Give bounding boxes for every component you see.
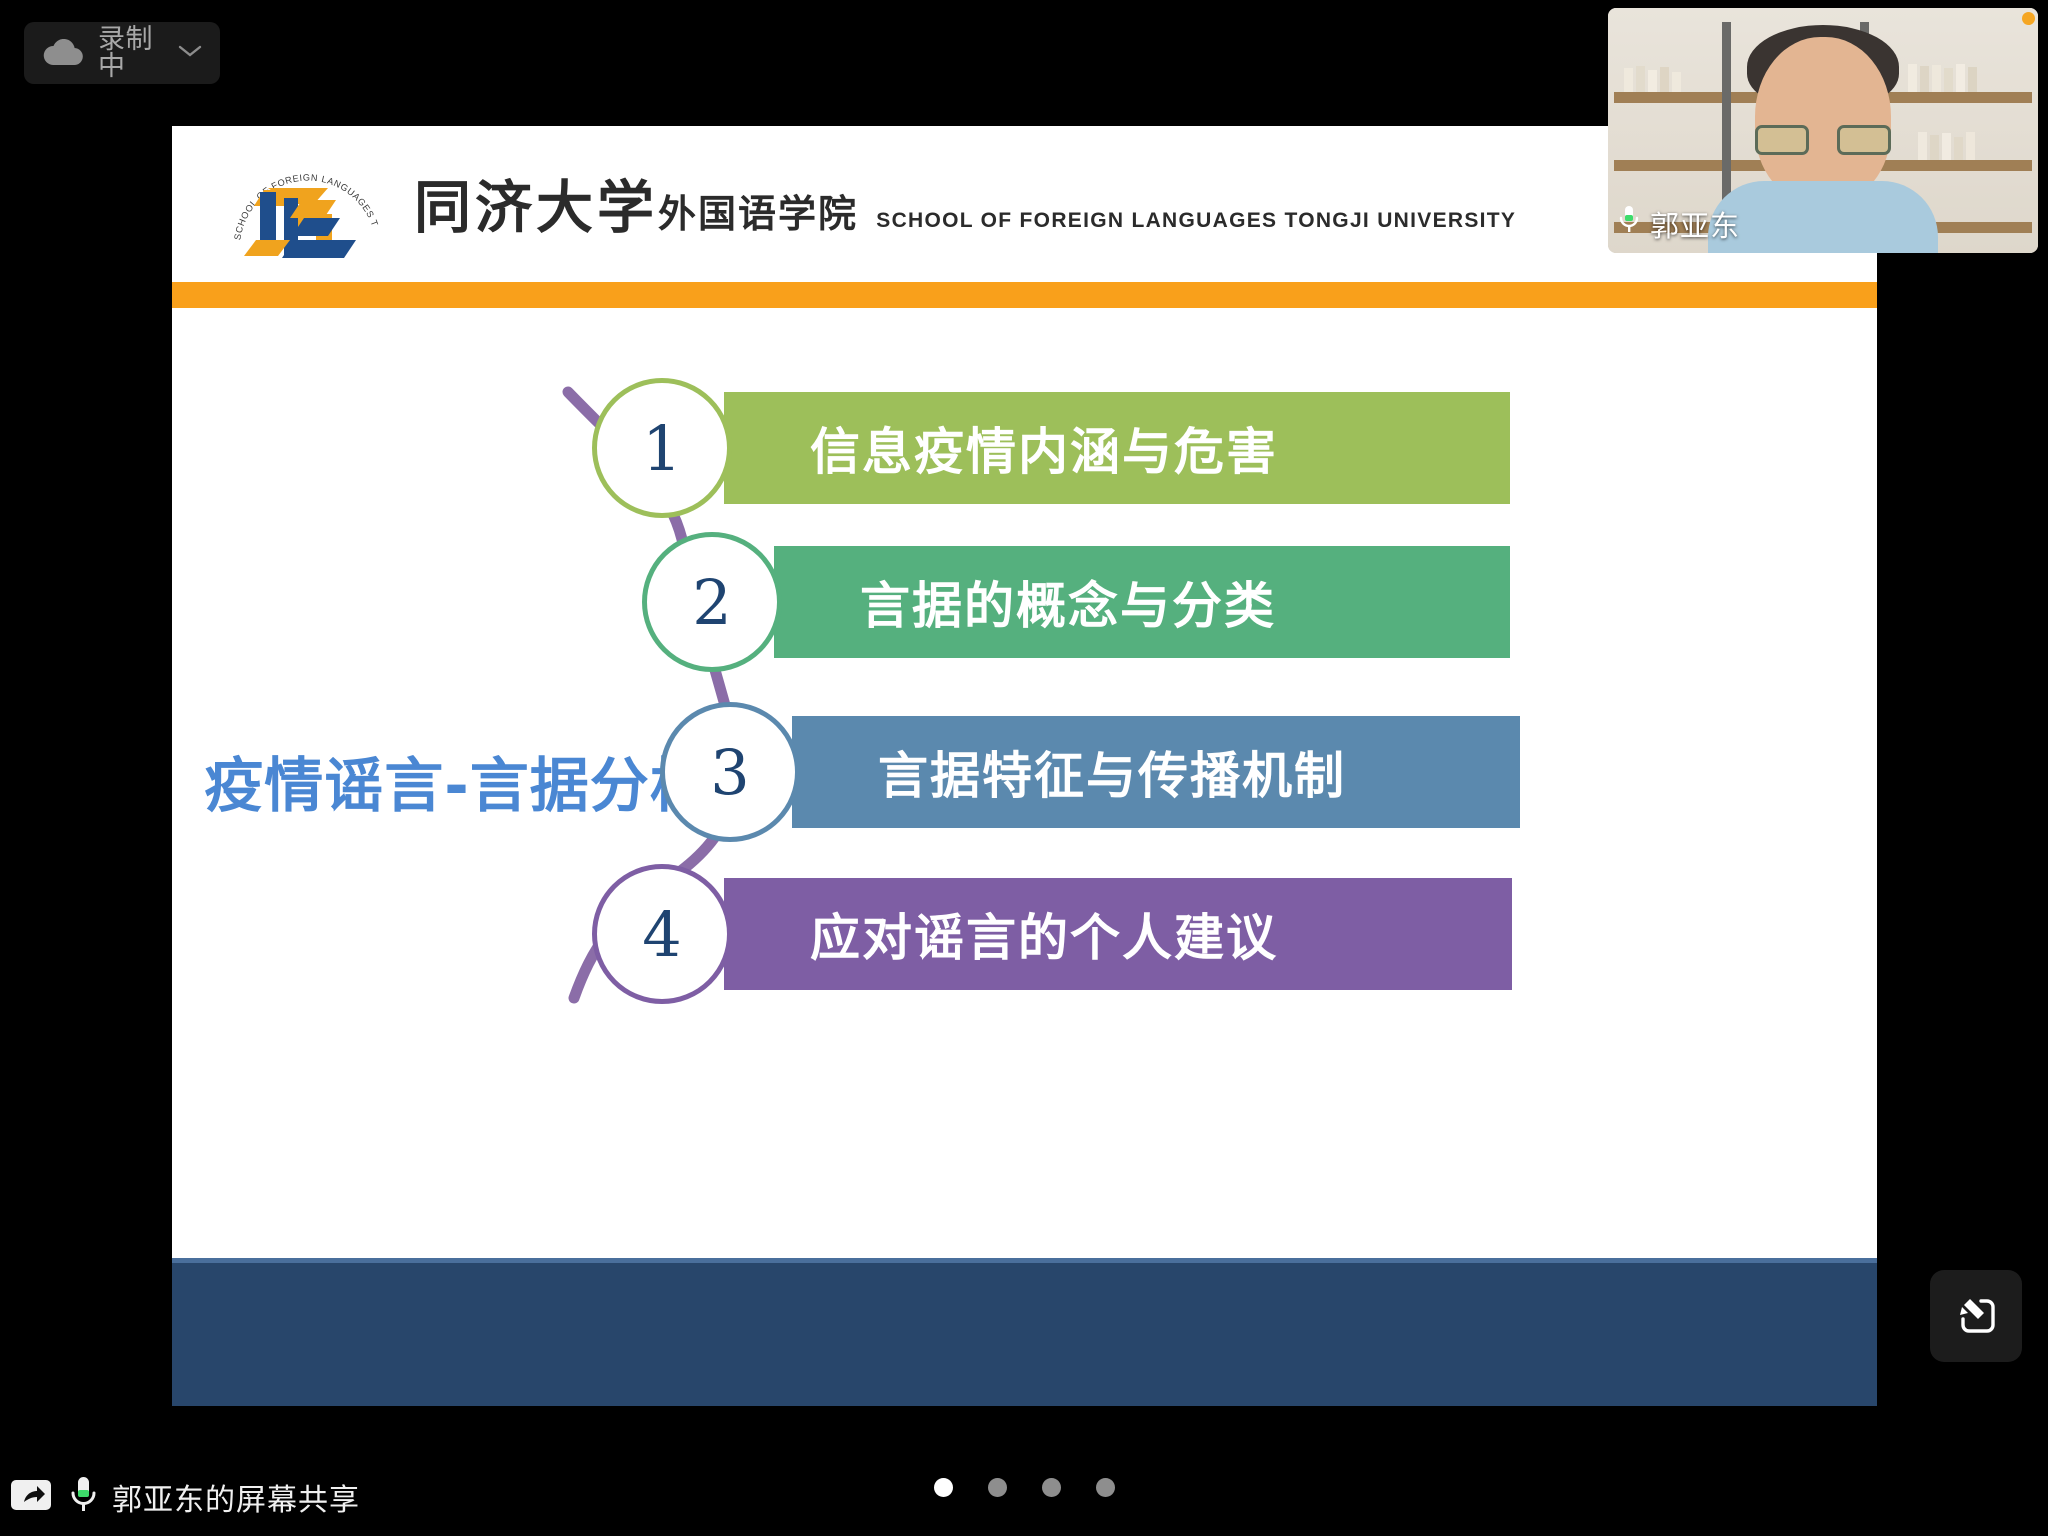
slide-footer-band (172, 1258, 1877, 1406)
agenda-label: 言据的概念与分类 (774, 566, 1276, 638)
chevron-down-icon[interactable] (178, 44, 202, 63)
shirt (1708, 181, 1938, 253)
agenda-label: 应对谣言的个人建议 (724, 898, 1278, 970)
annotate-pencil-icon (1951, 1291, 2001, 1341)
agenda-step-number: 3 (660, 702, 800, 842)
glasses-icon (1755, 125, 1891, 155)
agenda-bar: 应对谣言的个人建议 (724, 878, 1512, 990)
recording-indicator[interactable]: 录制中 (24, 22, 220, 84)
annotate-button[interactable] (1930, 1270, 2022, 1362)
participant-video-tile[interactable]: 郭亚东 (1608, 8, 2038, 253)
agenda-step-number: 1 (592, 378, 732, 518)
microphone-icon (1618, 204, 1640, 244)
agenda-bar: 信息疫情内涵与危害 (724, 392, 1510, 504)
tongji-sfl-logo-icon: SCHOOL OF FOREIGN LANGUAGES TONGJI UNIVE… (232, 148, 380, 266)
screen-share-statusbar: 郭亚东的屏幕共享 (0, 1458, 2048, 1536)
logo-english-subtitle: SCHOOL OF FOREIGN LANGUAGES TONGJI UNIVE… (876, 209, 1516, 232)
agenda-label: 信息疫情内涵与危害 (724, 412, 1278, 484)
face (1755, 37, 1891, 203)
logo-department-cn: 外国语学院 (658, 194, 858, 236)
agenda-diagram: 疫情谣言-言据分析 信息疫情内涵与危害 1 言据的概念与分类 2 言据特征与传播… (172, 308, 1877, 1258)
agenda-bar: 言据特征与传播机制 (792, 716, 1520, 828)
microphone-icon (68, 1473, 98, 1522)
books (1918, 132, 1975, 160)
logo-chinese-line: 同济大学外国语学院 (414, 177, 876, 240)
meeting-screen-share-view: 录制中 SCHOOL OF FOREIGN LANGUAGES TONGJI U… (0, 0, 2048, 1536)
page-title: 疫情谣言-言据分析 (172, 738, 742, 823)
agenda-step-number: 4 (592, 864, 732, 1004)
recording-label: 录制中 (98, 26, 164, 80)
screen-share-label: 郭亚东的屏幕共享 (112, 1475, 360, 1519)
participant-name: 郭亚东 (1650, 203, 1740, 245)
logo-university-cn: 同济大学 (414, 177, 658, 240)
cloud-icon (42, 39, 84, 67)
screen-share-icon (8, 1475, 54, 1520)
agenda-label: 言据特征与传播机制 (792, 736, 1346, 808)
university-logo: SCHOOL OF FOREIGN LANGUAGES TONGJI UNIVE… (232, 148, 1516, 266)
books (1624, 66, 1681, 92)
participant-name-badge: 郭亚东 (1618, 203, 1740, 245)
participant-avatar (1720, 17, 1926, 253)
slide-accent-bar (172, 282, 1877, 308)
status-dot (2022, 12, 2035, 25)
agenda-step-number: 2 (642, 532, 782, 672)
shared-slide: SCHOOL OF FOREIGN LANGUAGES TONGJI UNIVE… (172, 126, 1877, 1406)
logo-wordmark: 同济大学外国语学院 SCHOOL OF FOREIGN LANGUAGES TO… (414, 175, 1516, 239)
agenda-bar: 言据的概念与分类 (774, 546, 1510, 658)
